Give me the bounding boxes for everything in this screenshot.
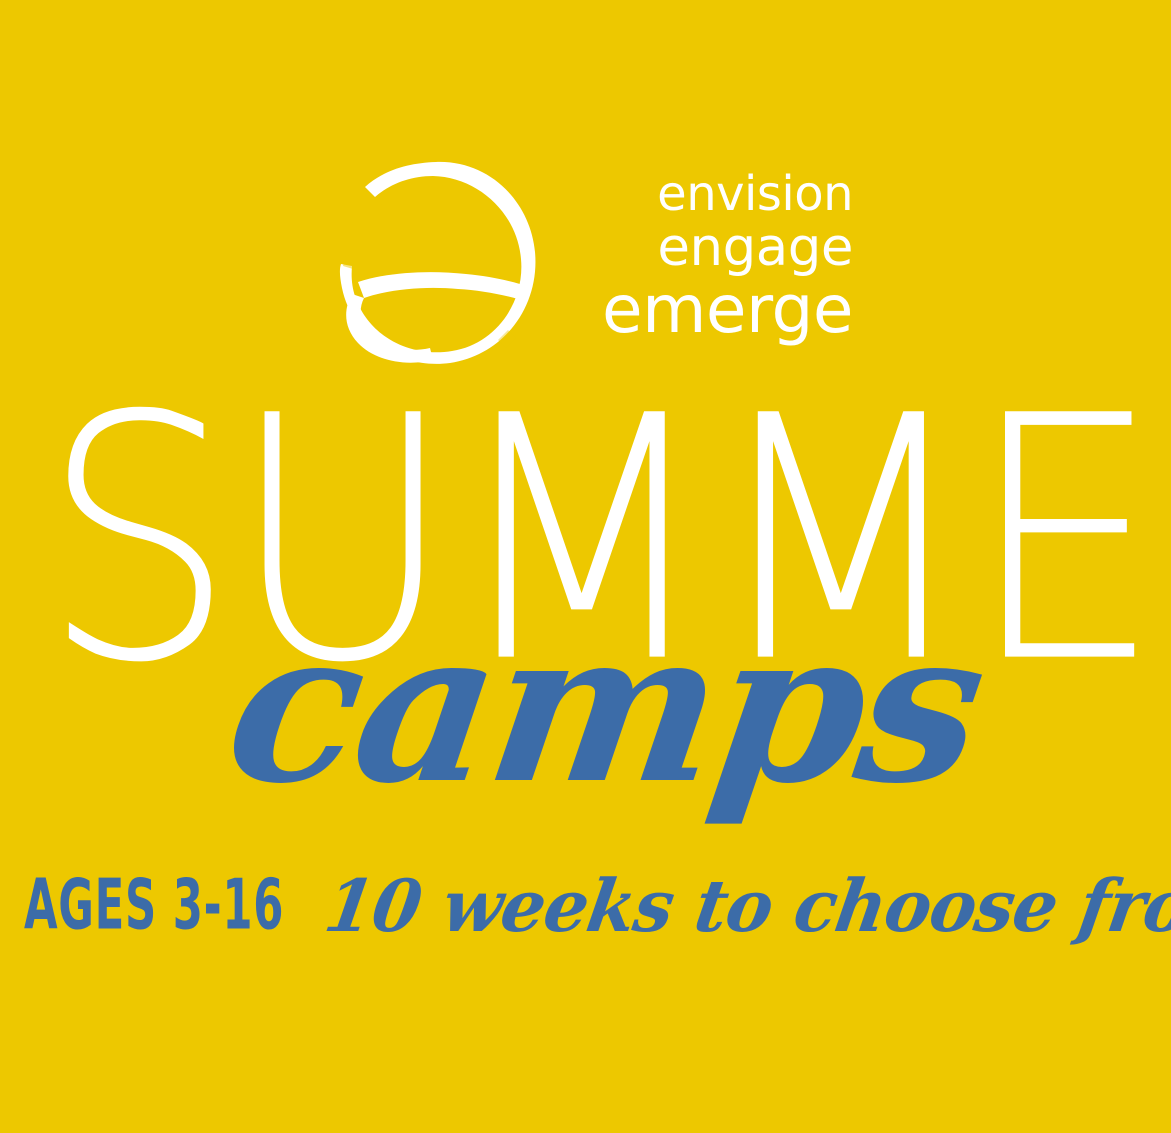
logo-word-envision: envision: [563, 168, 853, 220]
ages-label: AGES 3-16: [24, 870, 284, 939]
summer-camps-poster: envision engage emerge SUMMER camps AGES…: [0, 0, 1171, 1133]
logo-word-engage: engage: [563, 220, 853, 276]
footer-row: AGES 3-16 10 weeks to choose from!: [0, 866, 1171, 956]
logo-lockup: envision engage emerge: [338, 160, 858, 370]
brushstroke-e-logo-icon: [338, 160, 538, 365]
headline-camps-script: camps: [217, 602, 1001, 812]
logo-word-emerge: emerge: [563, 276, 853, 344]
logo-wordmark: envision engage emerge: [563, 168, 853, 344]
tagline-label: 10 weeks to choose from!: [320, 868, 1171, 944]
